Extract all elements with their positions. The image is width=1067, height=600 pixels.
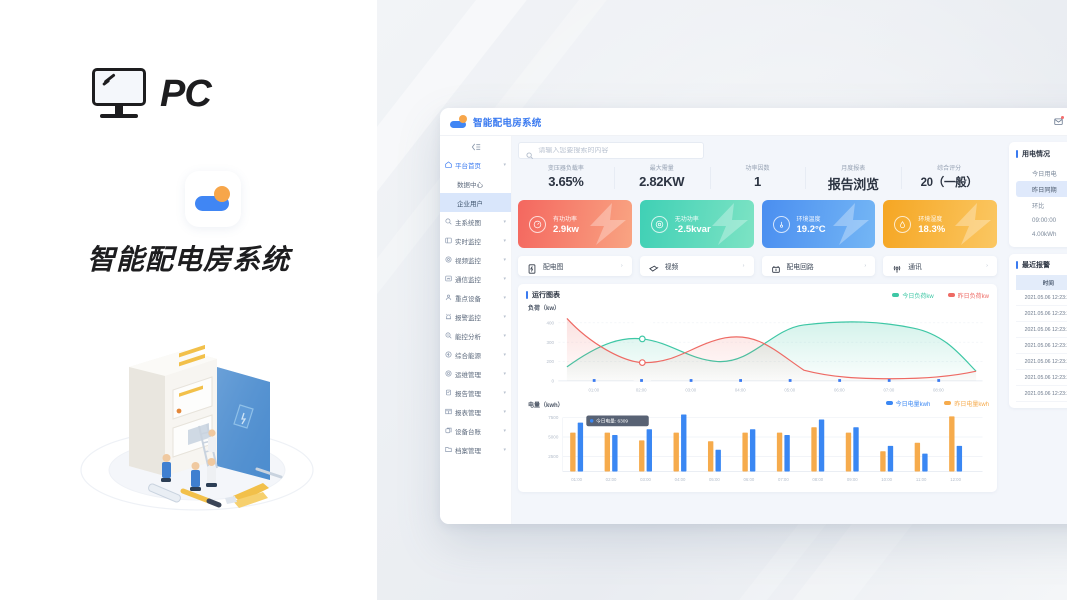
left-showcase-panel: PC 智能配电房系统 (0, 0, 377, 600)
chevron-right-icon: › (864, 263, 866, 269)
svg-text:08:00: 08:00 (812, 477, 823, 482)
usage-row: 09:00:00 (1016, 213, 1067, 227)
svg-text:12:00: 12:00 (950, 477, 961, 482)
sidebar-item-实时监控[interactable]: 实时监控 ▾ (440, 231, 511, 250)
svg-text:02:00: 02:00 (636, 388, 647, 393)
kpi-title: 变压器负载率 (518, 163, 614, 172)
switchgear-illustration (57, 320, 337, 515)
power-diagram-icon (527, 261, 537, 271)
metric-card-value: -2.5kvar (675, 224, 711, 235)
chevron-down-icon: ▾ (503, 257, 506, 263)
kpi-value: 1 (710, 174, 806, 189)
kpi-变压器负载率: 变压器负载率 3.65% (518, 163, 614, 193)
camera-icon (445, 256, 452, 263)
chevron-down-icon: ▾ (503, 333, 506, 339)
line-chart[interactable]: 400300 2000 (526, 312, 989, 396)
showcase-stage: 智能配电房系统 (377, 0, 1067, 600)
table-row: 2021.05.06 12:23:233低压 (1016, 386, 1067, 402)
archive-icon (445, 446, 452, 453)
usage-row: 昨日同期 (1016, 181, 1067, 197)
chevron-down-icon: ▾ (503, 447, 506, 453)
svg-text:11:00: 11:00 (916, 477, 927, 482)
chevron-down-icon: ▾ (503, 314, 506, 320)
sidebar-item-label: 通信监控 (455, 274, 500, 284)
legend-item-today-load[interactable]: 今日负荷kw (892, 291, 933, 300)
maintenance-icon (445, 370, 452, 377)
app-logo (185, 171, 241, 227)
action-button-label: 视频 (665, 261, 737, 271)
table-row: 2021.05.06 12:23:231低压 (1016, 290, 1067, 306)
kpi-功率因数: 功率因数 1 (710, 163, 806, 193)
sidebar-item-报表管理[interactable]: 报表管理 ▾ (440, 402, 511, 421)
right-aside: 用电情况 今日 今日用电 昨日同期 环比 09:00:00 4.00kWh 最近… (1002, 136, 1067, 524)
kpi-综合评分: 综合评分 20（一般） (901, 163, 997, 193)
svg-text:08:00: 08:00 (933, 388, 944, 393)
chevron-down-icon: ▾ (503, 371, 506, 377)
alarm-time: 2021.05.06 12:23:23 (1016, 354, 1067, 370)
table-row: 2021.05.06 12:23:233低压 (1016, 322, 1067, 338)
sidebar: 平台首页 ▾ 数据中心 企业用户 主系统图 ▾ (440, 136, 512, 524)
metric-card-name: 环境温度 (797, 214, 826, 223)
svg-text:06:00: 06:00 (744, 477, 755, 482)
chevron-down-icon: ▾ (503, 238, 506, 244)
search-icon (526, 147, 533, 155)
sidebar-item-企业用户[interactable]: 企业用户 (440, 193, 511, 212)
chevron-down-icon: ▾ (503, 409, 506, 415)
bar-chart[interactable]: 750050002500 (526, 409, 989, 487)
chevron-right-icon: › (986, 263, 988, 269)
chevron-down-icon: ▾ (503, 219, 506, 225)
svg-text:10:00: 10:00 (881, 477, 892, 482)
alarm-time: 2021.05.06 12:23:23 (1016, 338, 1067, 354)
svg-text:2500: 2500 (548, 454, 559, 459)
metric-card-row: 有功功率 2.9kw 无功功率 -2.5kvar (518, 200, 997, 248)
sidebar-item-label: 主系统图 (455, 217, 500, 227)
svg-text:7500: 7500 (548, 415, 559, 420)
svg-text:今日电量: 6309: 今日电量: 6309 (596, 418, 628, 425)
svg-text:09:00: 09:00 (847, 477, 858, 482)
sidebar-item-综合能源[interactable]: 综合能源 ▾ (440, 345, 511, 364)
legend-label: 昨日负荷kw (958, 291, 989, 300)
sidebar-item-label: 综合能源 (455, 350, 500, 360)
svg-text:04:00: 04:00 (675, 477, 686, 482)
table-row: 2021.05.06 12:23:232低压 (1016, 306, 1067, 322)
alarm-time: 2021.05.06 12:23:23 (1016, 322, 1067, 338)
sidebar-item-报告管理[interactable]: 报告管理 ▾ (440, 383, 511, 402)
sidebar-item-label: 企业用户 (457, 198, 506, 208)
metric-card-有功功率[interactable]: 有功功率 2.9kw (518, 200, 632, 248)
alarm-time: 2021.05.06 12:23:23 (1016, 370, 1067, 386)
svg-text:06:00: 06:00 (834, 388, 845, 393)
chevron-down-icon: ▾ (503, 390, 506, 396)
chart-panel: 运行图表 今日负荷kw 昨日负荷kw (518, 284, 997, 492)
sidebar-item-label: 报告管理 (455, 388, 500, 398)
sidebar-item-label: 能控分析 (455, 331, 500, 341)
diagram-icon (445, 218, 452, 225)
main-content: 变压器负载率 3.65% 最大需量 2.82KW 功率因数 1 月度报表 报告浏… (512, 136, 1002, 524)
chevron-down-icon: ▾ (503, 276, 506, 282)
sidebar-item-报警监控[interactable]: 报警监控 ▾ (440, 307, 511, 326)
metric-card-环境湿度[interactable]: 环境湿度 18.3% (883, 200, 997, 248)
kpi-title: 最大需量 (614, 163, 710, 172)
action-button-通讯[interactable]: 通讯 › (883, 256, 997, 276)
legend-item-yesterday-load[interactable]: 昨日负荷kw (948, 291, 989, 300)
legend-item-yesterday-energy[interactable]: 昨日电量kwh (944, 399, 989, 408)
home-icon (445, 161, 452, 168)
kpi-最大需量: 最大需量 2.82KW (614, 163, 710, 193)
usage-panel-title: 用电情况 (1022, 149, 1050, 159)
action-button-label: 配电回路 (787, 261, 859, 271)
kpi-value: 3.65% (518, 174, 614, 189)
bolt-decor-icon (582, 202, 632, 246)
gauge-icon (529, 216, 546, 233)
metric-card-value: 19.2°C (797, 224, 826, 235)
metric-card-name: 环境湿度 (918, 214, 945, 223)
search-bar[interactable] (518, 142, 704, 159)
sidebar-item-运维管理[interactable]: 运维管理 ▾ (440, 364, 511, 383)
sidebar-item-label: 平台首页 (455, 160, 500, 170)
svg-text:05:00: 05:00 (709, 477, 720, 482)
chevron-down-icon: ▾ (503, 295, 506, 301)
table-row: 2021.05.06 12:23:233低压 (1016, 338, 1067, 354)
bar-chart-y-label: 电量（kwh） (528, 400, 564, 409)
alarm-time: 2021.05.06 12:23:23 (1016, 306, 1067, 322)
svg-text:01:00: 01:00 (571, 477, 582, 482)
table-icon (445, 408, 452, 415)
target-icon (651, 216, 668, 233)
humidity-icon (894, 216, 911, 233)
video-icon (649, 261, 659, 271)
sidebar-item-label: 设备台账 (455, 426, 500, 436)
svg-text:07:00: 07:00 (778, 477, 789, 482)
kpi-title: 功率因数 (710, 163, 806, 172)
sidebar-item-label: 报警监控 (455, 312, 500, 322)
usage-row: 4.00kWh (1016, 227, 1067, 241)
app-logo-pill-dot-icon (450, 115, 467, 128)
legend-item-today-energy[interactable]: 今日电量kwh (886, 399, 931, 408)
kpi-value: 报告浏览 (805, 174, 901, 193)
monitor-icon (92, 68, 150, 120)
action-button-label: 配电图 (543, 261, 615, 271)
chevron-right-icon: › (743, 263, 745, 269)
bolt-decor-icon (947, 202, 997, 246)
report-icon (445, 389, 452, 396)
brand-name: 智能配电房系统 (473, 115, 542, 129)
alarm-column-时间: 时间 (1016, 275, 1067, 290)
alarm-table-header: 时间 报警等级 低压 (1016, 275, 1067, 290)
svg-text:05:00: 05:00 (784, 388, 795, 393)
antenna-icon (892, 261, 902, 271)
legend-label: 今日负荷kw (902, 291, 933, 300)
alarm-table: 时间 报警等级 低压 2021.05.06 12:23:231低压 2021.0… (1016, 275, 1067, 402)
chevron-down-icon: ▾ (503, 162, 506, 168)
action-button-配电回路[interactable]: 配电回路 › (762, 256, 876, 276)
kpi-title: 综合评分 (901, 163, 997, 172)
action-button-配电图[interactable]: 配电图 › (518, 256, 632, 276)
energy-icon (445, 351, 452, 358)
action-button-label: 通讯 (908, 261, 980, 271)
sidebar-item-重点设备[interactable]: 重点设备 ▾ (440, 288, 511, 307)
sidebar-item-label: 重点设备 (455, 293, 500, 303)
svg-text:03:00: 03:00 (685, 388, 696, 393)
svg-text:07:00: 07:00 (883, 388, 894, 393)
chevron-right-icon: › (621, 263, 623, 269)
kpi-月度报表[interactable]: 月度报表 报告浏览 (805, 163, 901, 193)
platform-badge: PC (92, 68, 211, 120)
sidebar-item-设备台账[interactable]: 设备台账 ▾ (440, 421, 511, 440)
svg-text:400: 400 (546, 320, 554, 325)
message-icon[interactable] (1054, 117, 1063, 126)
bolt-decor-icon (825, 202, 875, 246)
sidebar-item-数据中心[interactable]: 数据中心 (440, 174, 511, 193)
sidebar-item-label: 数据中心 (457, 179, 506, 189)
metric-card-无功功率[interactable]: 无功功率 -2.5kvar (640, 200, 754, 248)
metric-card-value: 18.3% (918, 224, 945, 235)
line-chart-legend: 今日负荷kw 昨日负荷kw (892, 291, 989, 300)
sidebar-item-label: 视频监控 (455, 255, 500, 265)
metric-card-name: 有功功率 (553, 214, 579, 223)
accent-bar (1016, 150, 1018, 158)
chevron-down-icon: ▾ (503, 428, 506, 434)
bar-chart-tooltip: 今日电量: 6309 (586, 415, 648, 426)
kpi-title: 月度报表 (805, 163, 901, 172)
svg-text:0: 0 (551, 379, 554, 384)
metric-card-name: 无功功率 (675, 214, 711, 223)
alarm-icon (445, 313, 452, 320)
svg-text:04:00: 04:00 (735, 388, 746, 393)
circuit-icon (771, 261, 781, 271)
svg-text:01:00: 01:00 (588, 388, 599, 393)
table-row: 2021.05.06 12:23:233低压 (1016, 354, 1067, 370)
action-button-row: 配电图 › 视频 › 配电回路 (518, 256, 997, 276)
accent-bar (526, 291, 528, 299)
ledger-icon (445, 427, 452, 434)
legend-label: 今日电量kwh (896, 399, 931, 408)
sidebar-item-能控分析[interactable]: 能控分析 ▾ (440, 326, 511, 345)
header-actions: 数字大屏 (1054, 116, 1067, 127)
sidebar-item-通信监控[interactable]: 通信监控 ▾ (440, 269, 511, 288)
alarm-panel-title: 最近报警 (1022, 260, 1050, 270)
monitor-icon (445, 237, 452, 244)
svg-text:300: 300 (546, 340, 554, 345)
usage-row: 今日用电 (1016, 165, 1067, 181)
svg-text:03:00: 03:00 (640, 477, 651, 482)
svg-text:02:00: 02:00 (606, 477, 617, 482)
metric-card-环境温度[interactable]: 环境温度 19.2°C (762, 200, 876, 248)
brand[interactable]: 智能配电房系统 (450, 115, 542, 129)
usage-row: 环比 (1016, 197, 1067, 213)
sidebar-item-档案管理[interactable]: 档案管理 ▾ (440, 440, 511, 459)
alarm-time: 2021.05.06 12:23:23 (1016, 386, 1067, 402)
line-chart-y-label: 负荷（kw） (528, 303, 989, 312)
platform-label: PC (160, 73, 211, 116)
signal-icon (445, 275, 452, 282)
chevron-down-icon: ▾ (503, 352, 506, 358)
app-logo-pill-dot-icon (195, 186, 231, 212)
kpi-row: 变压器负载率 3.65% 最大需量 2.82KW 功率因数 1 月度报表 报告浏… (518, 163, 997, 193)
sidebar-item-label: 运维管理 (455, 369, 500, 379)
kpi-value: 2.82KW (614, 174, 710, 189)
action-button-视频[interactable]: 视频 › (640, 256, 754, 276)
svg-text:200: 200 (546, 359, 554, 364)
app-header: 智能配电房系统 (440, 108, 1067, 136)
chart-panel-title: 运行图表 (532, 290, 560, 300)
device-icon (445, 294, 452, 301)
bolt-decor-icon (704, 202, 754, 246)
alarm-panel: 最近报警 时间 报警等级 低压 2021.05.06 12:23:231低压 2… (1009, 254, 1067, 408)
kpi-value: 20（一般） (901, 174, 997, 190)
table-row: 2021.05.06 12:23:233低压 (1016, 370, 1067, 386)
svg-text:5000: 5000 (548, 435, 559, 440)
sidebar-item-label: 实时监控 (455, 236, 500, 246)
bar-chart-legend: 今日电量kwh 昨日电量kwh (886, 399, 989, 408)
thermometer-icon (773, 216, 790, 233)
sidebar-item-视频监控[interactable]: 视频监控 ▾ (440, 250, 511, 269)
app-window: 智能配电房系统 (440, 108, 1067, 524)
sidebar-item-主系统图[interactable]: 主系统图 ▾ (440, 212, 511, 231)
collapse-menu-icon[interactable] (440, 140, 511, 155)
alarm-time: 2021.05.06 12:23:23 (1016, 290, 1067, 306)
accent-bar (1016, 261, 1018, 269)
metric-card-value: 2.9kw (553, 224, 579, 235)
sidebar-item-label: 档案管理 (455, 445, 500, 455)
sidebar-item-平台首页[interactable]: 平台首页 ▾ (440, 155, 511, 174)
legend-label: 昨日电量kwh (954, 399, 989, 408)
search-input[interactable] (538, 147, 696, 154)
analysis-icon (445, 332, 452, 339)
usage-panel: 用电情况 今日 今日用电 昨日同期 环比 09:00:00 4.00kWh (1009, 142, 1067, 247)
app-title: 智能配电房系统 (0, 238, 377, 278)
sidebar-item-label: 报表管理 (455, 407, 500, 417)
